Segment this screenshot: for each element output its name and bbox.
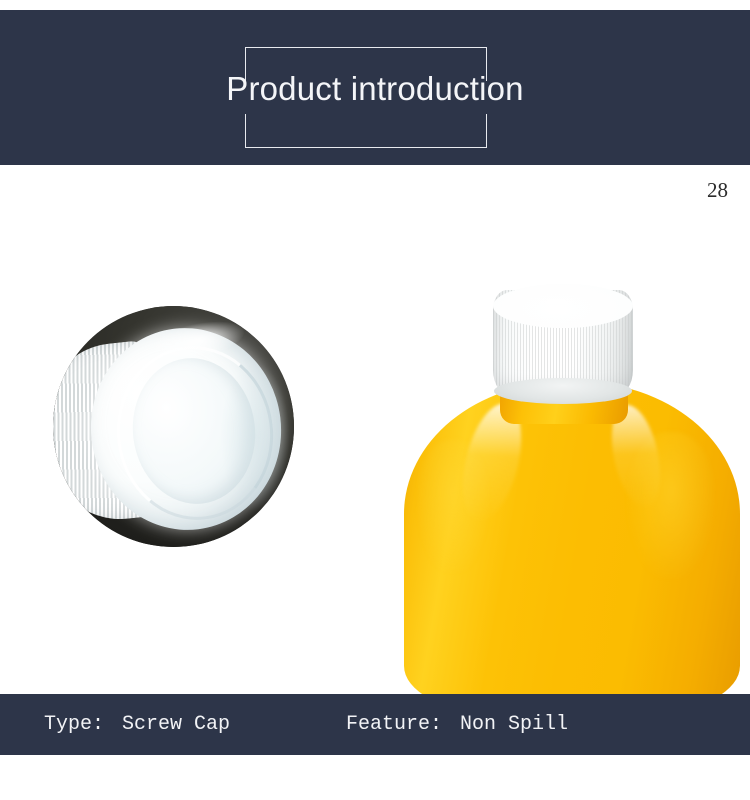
- title-frame-right-lower-edge: [486, 114, 487, 148]
- title-frame-left-lower-edge: [245, 114, 246, 148]
- title-frame-bottom-edge: [245, 147, 487, 148]
- page-title: Product introduction: [0, 72, 750, 105]
- info-value-feature: Non Spill: [460, 713, 568, 736]
- info-value-type: Screw Cap: [122, 713, 230, 736]
- page-number: 28: [707, 180, 728, 201]
- cap-closeup-image: [53, 306, 294, 547]
- bottle-image: [396, 282, 750, 694]
- product-info-bar: Type: Screw Cap Feature: Non Spill: [0, 694, 750, 755]
- cap-edge-glow: [220, 362, 290, 512]
- info-label-feature: Feature:: [346, 713, 442, 736]
- header-banner: Product introduction: [0, 10, 750, 165]
- info-label-type: Type:: [44, 713, 104, 736]
- bottle-cap-sheen: [516, 292, 598, 312]
- bottle-screw-cap-base: [494, 378, 632, 404]
- info-item-type: Type: Screw Cap: [44, 715, 230, 735]
- info-item-feature: Feature: Non Spill: [346, 715, 568, 735]
- title-frame-top-edge: [245, 47, 487, 48]
